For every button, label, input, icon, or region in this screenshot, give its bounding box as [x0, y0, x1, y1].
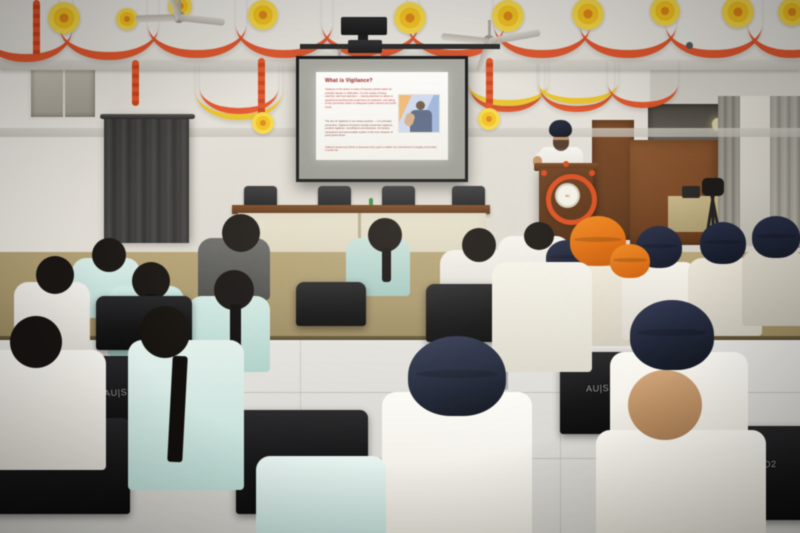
projector-lens-icon [686, 42, 693, 49]
marigold-flower-icon [48, 2, 80, 34]
projector-shelf [300, 44, 500, 49]
illustration-head [416, 101, 425, 110]
person-head [140, 306, 190, 358]
orange-turban [610, 244, 650, 278]
slide-footer-note: Vigilance Awareness Week is observed eve… [325, 146, 437, 153]
podium-emblem-text: AU [565, 194, 569, 198]
wall-garland-swag [608, 58, 678, 108]
navy-turban [700, 222, 746, 264]
fan-downrod [488, 20, 491, 36]
marigold-flower-icon [492, 0, 524, 32]
navy-turban [630, 300, 714, 370]
person-head [10, 316, 62, 368]
wall-garland-swag-yellow [196, 62, 282, 120]
slide-title: What is Vigilance? [325, 78, 373, 84]
person-head [368, 218, 402, 252]
slide-illustration [398, 94, 440, 133]
person-torso [256, 456, 386, 533]
projector-icon [341, 17, 387, 35]
person-head [222, 214, 260, 252]
person-torso [596, 430, 766, 533]
marigold-flower-icon [252, 112, 274, 134]
navy-turban [408, 336, 506, 416]
person-head [628, 370, 702, 440]
chair-back[interactable] [296, 282, 366, 326]
camera-tripod-icon [702, 178, 724, 196]
person-head [462, 228, 496, 262]
slide-paragraph-2: The aim of vigilance is not merely punit… [325, 120, 397, 138]
wall-garland-swag-yellow [538, 60, 618, 104]
person-head [92, 238, 126, 272]
garland-drop [33, 0, 40, 58]
navy-turban [752, 216, 800, 258]
stage-curtain [104, 118, 189, 243]
garland-bead [541, 170, 547, 176]
marigold-flower-icon [248, 0, 278, 30]
projector-body [348, 40, 382, 53]
curtain-rod [100, 114, 195, 119]
marigold-flower-icon [478, 108, 500, 130]
desk-object [682, 186, 700, 198]
garland-bead [589, 170, 595, 176]
speaker-turban [549, 120, 572, 137]
person-torso [0, 350, 106, 470]
slide-paragraph-1: Vigilance is the action or state of keep… [325, 88, 397, 110]
presentation-slide: What is Vigilance? Vigilance is the acti… [316, 72, 448, 160]
projection-screen: What is Vigilance? Vigilance is the acti… [296, 56, 468, 182]
person-braid [382, 248, 391, 282]
person-head [36, 256, 74, 294]
marigold-flower-icon [394, 2, 426, 34]
person-torso [742, 250, 800, 326]
person-head [524, 222, 554, 250]
seminar-hall-photo: What is Vigilance? Vigilance is the acti… [0, 0, 800, 533]
garland-bead [563, 161, 569, 167]
podium-emblem: AU [555, 183, 580, 208]
garland-drop [132, 60, 139, 106]
person-torso [492, 262, 592, 372]
